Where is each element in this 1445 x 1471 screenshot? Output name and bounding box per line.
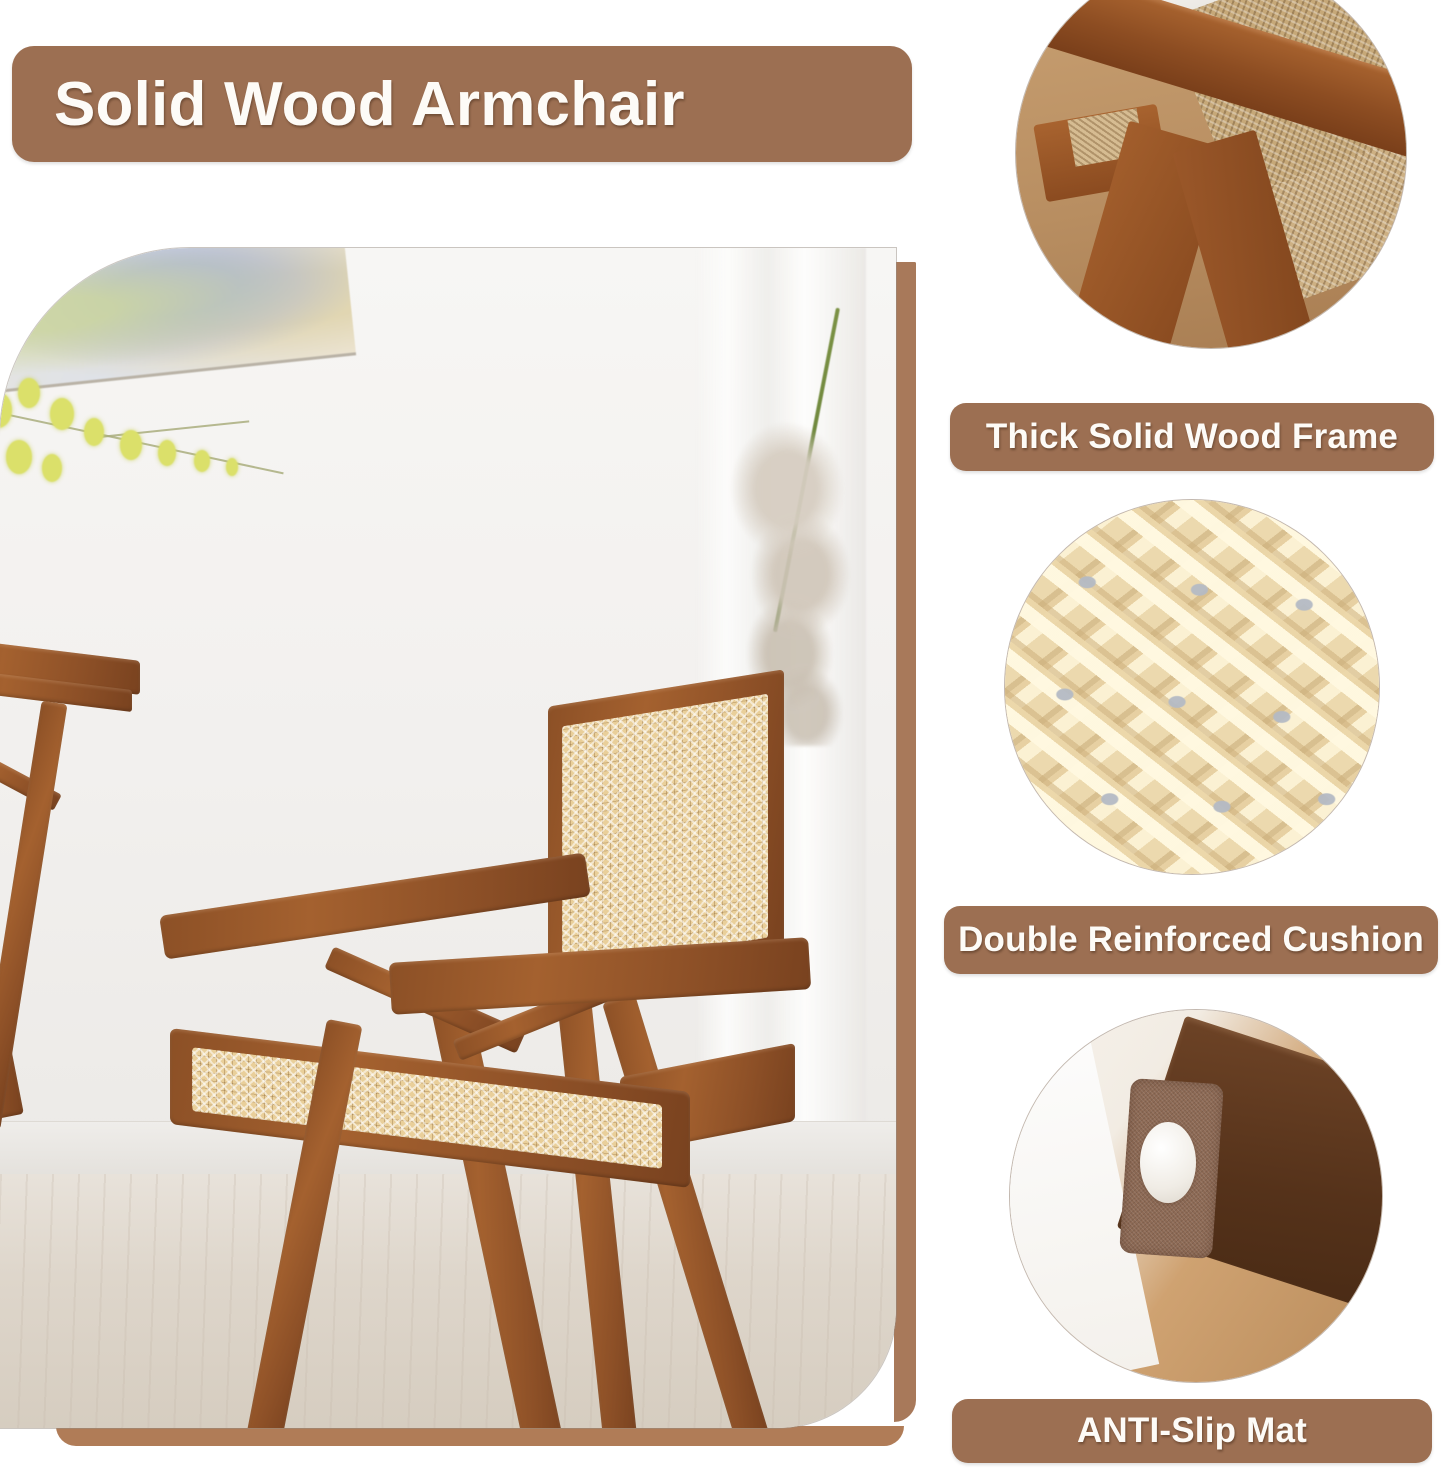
feature-badge-frame: Thick Solid Wood Frame bbox=[950, 403, 1434, 471]
feature-label-mat: ANTI-Slip Mat bbox=[1077, 1411, 1307, 1451]
page-title: Solid Wood Armchair bbox=[54, 69, 685, 140]
side-table bbox=[0, 648, 160, 1168]
hero-product-photo bbox=[0, 248, 896, 1428]
detail-photo-mat bbox=[1010, 1010, 1382, 1382]
feature-label-frame: Thick Solid Wood Frame bbox=[986, 417, 1398, 457]
feature-badge-cushion: Double Reinforced Cushion bbox=[944, 906, 1438, 974]
detail-cushion-holes bbox=[1005, 500, 1379, 874]
hero-accent-bar-bottom bbox=[56, 1426, 904, 1446]
flower-branch bbox=[0, 358, 310, 528]
hero-accent-bar-right bbox=[894, 262, 916, 1422]
feature-badge-mat: ANTI-Slip Mat bbox=[952, 1399, 1432, 1463]
feature-label-cushion: Double Reinforced Cushion bbox=[958, 920, 1424, 960]
armchair bbox=[150, 688, 850, 1368]
chair-armrest bbox=[159, 852, 591, 959]
side-table-leg bbox=[0, 701, 67, 1130]
hero-image-frame bbox=[0, 248, 916, 1446]
detail-mat-anti-slip-dot bbox=[1140, 1122, 1196, 1204]
product-title-badge: Solid Wood Armchair bbox=[12, 46, 912, 162]
detail-photo-cushion bbox=[1005, 500, 1379, 874]
detail-photo-frame bbox=[1016, 0, 1406, 348]
chair-back-cane-panel bbox=[562, 694, 768, 971]
